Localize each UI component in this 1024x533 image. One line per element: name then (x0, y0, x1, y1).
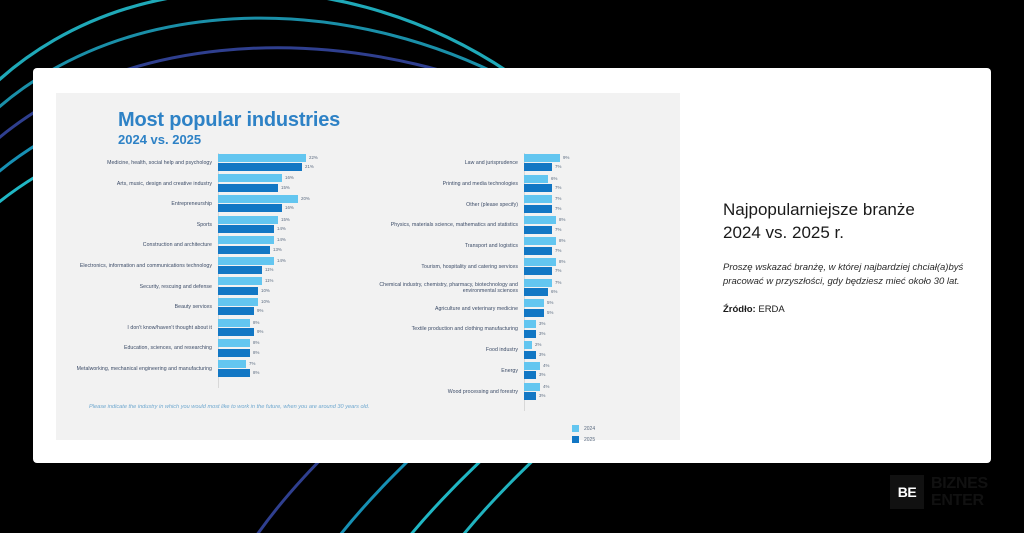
bar-row: 4% (524, 362, 666, 370)
bar-row: 16% (218, 174, 366, 182)
bar-row: 14% (218, 225, 366, 233)
bar-row: 3% (524, 320, 666, 328)
bar-row: 11% (218, 266, 366, 274)
bar-y2024 (218, 154, 306, 162)
bar-group: Physics, materials science, mathematics … (376, 215, 666, 236)
bar-value-label: 6% (551, 289, 557, 294)
bar-value-label: 15% (281, 217, 290, 222)
bar-category-label: Beauty services (66, 304, 218, 311)
legend-swatch-2025 (572, 436, 579, 443)
bar-row: 9% (524, 154, 666, 162)
bar-value-label: 6% (551, 176, 557, 181)
bar-y2024 (524, 258, 556, 266)
bar-value-label: 7% (555, 185, 561, 190)
bar-value-label: 11% (265, 278, 273, 283)
bar-value-label: 8% (559, 238, 565, 243)
bar-y2025 (218, 369, 250, 377)
bar-y2024 (218, 339, 250, 347)
bar-row: 7% (524, 279, 666, 287)
bar-row: 15% (218, 184, 366, 192)
bar-pair: 4%3% (524, 383, 666, 402)
bar-group: Transport and logistics8%7% (376, 236, 666, 257)
bar-y2025 (524, 226, 552, 234)
logo-word-biznes: BIZNES (931, 475, 988, 492)
bar-value-label: 3% (539, 352, 545, 357)
bar-y2024 (524, 216, 556, 224)
bar-value-label: 5% (547, 310, 553, 315)
bar-category-label: Education, sciences, and researching (66, 345, 218, 352)
bar-category-label: I don't know/haven't thought about it (66, 325, 218, 332)
bar-y2024 (524, 175, 548, 183)
bar-row: 3% (524, 330, 666, 338)
bar-y2024 (524, 195, 552, 203)
bar-pair: 20%16% (218, 195, 366, 214)
bar-value-label: 7% (555, 268, 561, 273)
bar-value-label: 16% (285, 175, 294, 180)
bar-y2024 (218, 319, 250, 327)
bar-row: 15% (218, 216, 366, 224)
bar-row: 13% (218, 246, 366, 254)
logo-mark-text: BE (898, 484, 916, 500)
bar-row: 14% (218, 236, 366, 244)
bar-pair: 22%21% (218, 154, 366, 173)
bar-category-label: Food industry (376, 347, 524, 354)
bar-value-label: 21% (305, 164, 314, 169)
bar-y2024 (218, 236, 274, 244)
bar-row: 10% (218, 287, 366, 295)
side-source: Źródło: ERDA (723, 304, 985, 315)
bar-category-label: Printing and media technologies (376, 181, 524, 188)
bar-pair: 7%7% (524, 195, 666, 214)
bar-value-label: 20% (301, 196, 310, 201)
bar-y2024 (218, 257, 274, 265)
bar-y2025 (218, 204, 282, 212)
bar-pair: 8%7% (524, 237, 666, 256)
bar-y2025 (218, 287, 258, 295)
bar-row: 20% (218, 195, 366, 203)
bar-y2024 (524, 362, 540, 370)
bar-group: Metalworking, mechanical engineering and… (66, 359, 366, 380)
bar-pair: 14%13% (218, 236, 366, 255)
bar-category-label: Electronics, information and communicati… (66, 263, 218, 270)
legend-item-2024: 2024 (572, 425, 595, 432)
bar-group: Printing and media technologies6%7% (376, 174, 666, 195)
bar-y2025 (524, 309, 544, 317)
bar-y2024 (524, 237, 556, 245)
bar-group: Arts, music, design and creative industr… (66, 174, 366, 195)
legend-label-2024: 2024 (584, 426, 595, 432)
bar-y2024 (218, 360, 246, 368)
bar-value-label: 3% (539, 331, 545, 336)
bar-y2025 (218, 328, 254, 336)
bar-value-label: 4% (543, 384, 549, 389)
bar-value-label: 7% (555, 280, 561, 285)
bar-row: 7% (524, 226, 666, 234)
bar-row: 7% (524, 195, 666, 203)
bar-row: 4% (524, 383, 666, 391)
bar-value-label: 14% (277, 226, 286, 231)
bar-pair: 6%7% (524, 175, 666, 194)
bar-y2025 (524, 163, 552, 171)
bar-pair: 15%14% (218, 216, 366, 235)
bar-y2025 (524, 247, 552, 255)
bar-row: 10% (218, 298, 366, 306)
bar-value-label: 3% (539, 393, 545, 398)
bar-y2025 (524, 351, 536, 359)
bar-row: 21% (218, 163, 366, 171)
bar-row: 8% (524, 258, 666, 266)
bar-pair: 10%9% (218, 298, 366, 317)
bar-group: Chemical industry, chemistry, pharmacy, … (376, 278, 666, 299)
bar-pair: 7%6% (524, 279, 666, 298)
bar-category-label: Chemical industry, chemistry, pharmacy, … (376, 282, 524, 295)
bar-y2025 (524, 330, 536, 338)
bar-group: Other (please specify)7%7% (376, 195, 666, 216)
side-description: Proszę wskazać branżę, w której najbardz… (723, 261, 985, 289)
bar-value-label: 10% (261, 288, 270, 293)
bar-pair: 16%15% (218, 174, 366, 193)
bar-group: Law and jurisprudence9%7% (376, 153, 666, 174)
bar-group: Beauty services10%9% (66, 297, 366, 318)
bar-value-label: 7% (249, 361, 255, 366)
bar-row: 9% (218, 328, 366, 336)
bar-group: Wood processing and forestry4%3% (376, 382, 666, 403)
bar-category-label: Physics, materials science, mathematics … (376, 222, 524, 229)
bar-value-label: 7% (555, 196, 561, 201)
logo-wordmark: BIZNES ENTER (931, 475, 988, 509)
side-source-value: ERDA (758, 304, 784, 315)
legend-swatch-2024 (572, 425, 579, 432)
bar-pair: 3%3% (524, 320, 666, 339)
bar-y2025 (524, 392, 536, 400)
bar-row: 6% (524, 175, 666, 183)
side-title-line1: Najpopularniejsze branże (723, 200, 915, 219)
side-title: Najpopularniejsze branże 2024 vs. 2025 r… (723, 198, 985, 244)
bar-group: I don't know/haven't thought about it8%9… (66, 318, 366, 339)
infographic-subtitle: 2024 vs. 2025 (118, 132, 201, 147)
bar-value-label: 8% (253, 370, 259, 375)
bar-row: 8% (218, 349, 366, 357)
bar-row: 6% (524, 288, 666, 296)
legend-label-2025: 2025 (584, 437, 595, 443)
bar-y2024 (218, 277, 262, 285)
bar-pair: 14%11% (218, 257, 366, 276)
bar-group: Education, sciences, and researching8%8% (66, 338, 366, 359)
bar-group: Sports15%14% (66, 215, 366, 236)
bar-category-label: Wood processing and forestry (376, 389, 524, 396)
slide-canvas: Most popular industries 2024 vs. 2025 Me… (0, 0, 1024, 533)
bar-row: 2% (524, 341, 666, 349)
bar-value-label: 8% (559, 259, 565, 264)
bar-group: Medicine, health, social help and psycho… (66, 153, 366, 174)
bar-row: 7% (524, 184, 666, 192)
bar-category-label: Arts, music, design and creative industr… (66, 181, 218, 188)
bar-row: 5% (524, 299, 666, 307)
bar-row: 7% (218, 360, 366, 368)
bar-row: 8% (218, 319, 366, 327)
bar-y2024 (524, 320, 536, 328)
bar-value-label: 3% (539, 372, 545, 377)
bar-y2024 (524, 383, 540, 391)
logo-word-enter: ENTER (931, 492, 988, 509)
bar-pair: 9%7% (524, 154, 666, 173)
bar-pair: 8%7% (524, 258, 666, 277)
bar-row: 8% (524, 237, 666, 245)
bar-row: 7% (524, 163, 666, 171)
bar-category-label: Entrepreneurship (66, 201, 218, 208)
bar-category-label: Security, rescuing and defense (66, 284, 218, 291)
bar-row: 14% (218, 257, 366, 265)
infographic-panel: Most popular industries 2024 vs. 2025 Me… (56, 93, 680, 440)
bar-group: Food industry2%3% (376, 340, 666, 361)
bar-category-label: Energy (376, 368, 524, 375)
bar-y2025 (524, 267, 552, 275)
bar-category-label: Law and jurisprudence (376, 160, 524, 167)
bar-row: 3% (524, 351, 666, 359)
bar-y2024 (524, 341, 532, 349)
bar-y2024 (218, 216, 278, 224)
bar-y2025 (524, 205, 552, 213)
bar-y2025 (218, 246, 270, 254)
bar-y2025 (524, 288, 548, 296)
bar-value-label: 9% (257, 308, 263, 313)
bar-value-label: 7% (555, 206, 561, 211)
bar-value-label: 7% (555, 227, 561, 232)
bar-chart-plot: Law and jurisprudence9%7%Printing and me… (376, 153, 666, 403)
bar-y2025 (218, 349, 250, 357)
bar-row: 3% (524, 371, 666, 379)
bar-category-label: Other (please specify) (376, 202, 524, 209)
bar-pair: 8%7% (524, 216, 666, 235)
bar-value-label: 14% (277, 237, 286, 242)
infographic-title: Most popular industries (118, 109, 340, 132)
bar-value-label: 8% (253, 340, 259, 345)
bar-value-label: 4% (543, 363, 549, 368)
bar-group: Textile production and clothing manufact… (376, 319, 666, 340)
bar-category-label: Tourism, hospitality and catering servic… (376, 264, 524, 271)
bar-value-label: 7% (555, 164, 561, 169)
bar-group: Entrepreneurship20%16% (66, 194, 366, 215)
bar-pair: 8%8% (218, 339, 366, 358)
bar-category-label: Sports (66, 222, 218, 229)
bar-value-label: 14% (277, 258, 286, 263)
bar-y2024 (524, 279, 552, 287)
bar-group: Construction and architecture14%13% (66, 235, 366, 256)
bar-row: 7% (524, 247, 666, 255)
bar-y2025 (524, 184, 552, 192)
bar-y2024 (524, 299, 544, 307)
bar-pair: 7%8% (218, 360, 366, 379)
bar-row: 7% (524, 267, 666, 275)
bar-row: 8% (218, 339, 366, 347)
bar-value-label: 16% (285, 205, 294, 210)
bar-value-label: 8% (253, 350, 259, 355)
bar-y2024 (218, 298, 258, 306)
chart-footnote: Please indicate the industry in which yo… (89, 403, 419, 411)
bar-category-label: Transport and logistics (376, 243, 524, 250)
bar-y2024 (218, 195, 298, 203)
bar-value-label: 3% (539, 321, 545, 326)
bar-y2024 (524, 154, 560, 162)
bar-pair: 11%10% (218, 277, 366, 296)
bar-value-label: 9% (563, 155, 569, 160)
bar-pair: 4%3% (524, 362, 666, 381)
bar-value-label: 8% (559, 217, 565, 222)
bar-row: 9% (218, 307, 366, 315)
side-text-block: Najpopularniejsze branże 2024 vs. 2025 r… (723, 198, 985, 315)
bar-y2025 (218, 163, 302, 171)
bar-group: Security, rescuing and defense11%10% (66, 277, 366, 298)
bar-category-label: Metalworking, mechanical engineering and… (66, 366, 218, 373)
bar-row: 16% (218, 204, 366, 212)
bar-value-label: 10% (261, 299, 270, 304)
bar-category-label: Construction and architecture (66, 242, 218, 249)
bar-chart-plot: Medicine, health, social help and psycho… (66, 153, 366, 380)
bar-row: 5% (524, 309, 666, 317)
legend-item-2025: 2025 (572, 436, 595, 443)
chart-column-right: Law and jurisprudence9%7%Printing and me… (376, 153, 666, 403)
bar-value-label: 2% (535, 342, 541, 347)
bar-group: Agriculture and veterinary medicine5%5% (376, 299, 666, 320)
bar-category-label: Textile production and clothing manufact… (376, 326, 524, 333)
bar-value-label: 8% (253, 320, 259, 325)
bar-y2025 (218, 184, 278, 192)
bar-value-label: 9% (257, 329, 263, 334)
bar-group: Electronics, information and communicati… (66, 256, 366, 277)
bar-value-label: 11% (265, 267, 273, 272)
bar-value-label: 7% (555, 248, 561, 253)
bar-row: 8% (524, 216, 666, 224)
side-source-label: Źródło: (723, 304, 756, 315)
bar-y2025 (218, 225, 274, 233)
bar-pair: 8%9% (218, 319, 366, 338)
bar-y2024 (218, 174, 282, 182)
bar-y2025 (524, 371, 536, 379)
bar-y2025 (218, 266, 262, 274)
logo-mark-icon: BE (890, 475, 924, 509)
bar-group: Energy4%3% (376, 361, 666, 382)
bar-row: 3% (524, 392, 666, 400)
chart-column-left: Medicine, health, social help and psycho… (66, 153, 366, 380)
biznes-enter-logo: BE BIZNES ENTER (890, 475, 988, 509)
bar-row: 7% (524, 205, 666, 213)
side-title-line2: 2024 vs. 2025 r. (723, 223, 844, 242)
slide-card: Most popular industries 2024 vs. 2025 Me… (33, 68, 991, 463)
bar-value-label: 5% (547, 300, 553, 305)
bar-category-label: Medicine, health, social help and psycho… (66, 160, 218, 167)
bar-row: 22% (218, 154, 366, 162)
bar-category-label: Agriculture and veterinary medicine (376, 306, 524, 313)
bar-value-label: 13% (273, 247, 282, 252)
bar-row: 8% (218, 369, 366, 377)
bar-row: 11% (218, 277, 366, 285)
bar-pair: 2%3% (524, 341, 666, 360)
bar-value-label: 22% (309, 155, 318, 160)
chart-legend: 2024 2025 (572, 425, 595, 443)
bar-y2025 (218, 307, 254, 315)
bar-pair: 5%5% (524, 299, 666, 318)
bar-value-label: 15% (281, 185, 290, 190)
bar-group: Tourism, hospitality and catering servic… (376, 257, 666, 278)
